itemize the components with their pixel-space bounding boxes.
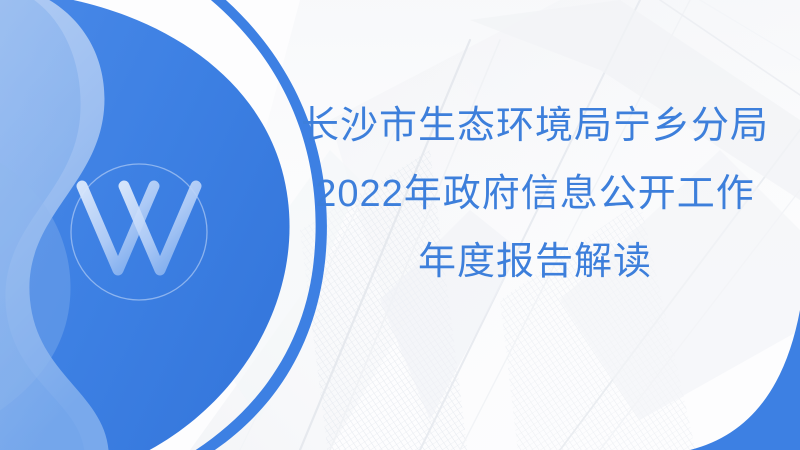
corner-accent-decoration	[660, 310, 800, 450]
title-line-2: 2022年政府信息公开工作	[300, 160, 770, 228]
slide-canvas: 长沙市生态环境局宁乡分局 2022年政府信息公开工作 年度报告解读	[0, 0, 800, 450]
wps-logo	[60, 152, 218, 312]
title-line-3: 年度报告解读	[300, 228, 770, 296]
slide-title: 长沙市生态环境局宁乡分局 2022年政府信息公开工作 年度报告解读	[300, 92, 770, 296]
title-line-1: 长沙市生态环境局宁乡分局	[300, 92, 770, 160]
